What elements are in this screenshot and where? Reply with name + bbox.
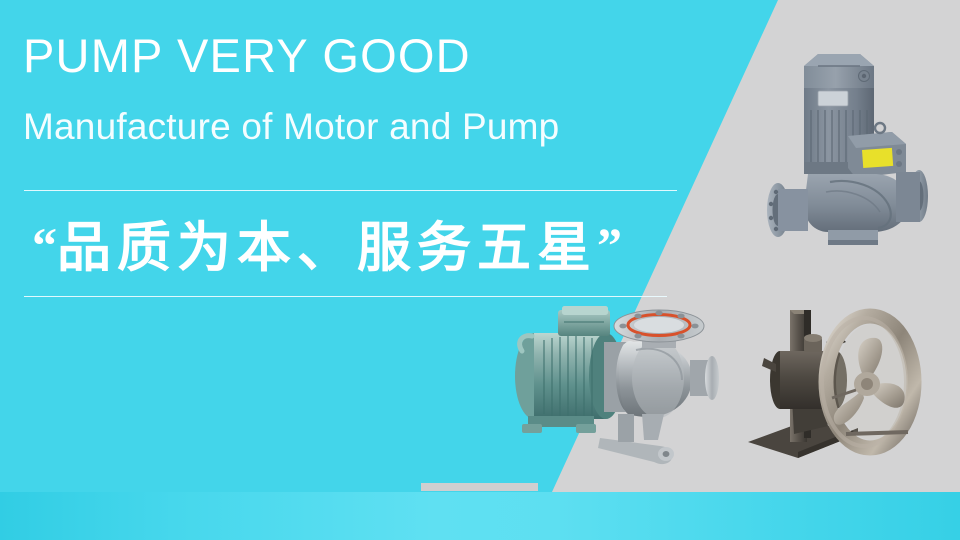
subtitle: Manufacture of Motor and Pump <box>23 104 559 150</box>
slogan-close-quote: ” <box>597 217 622 273</box>
slogan: “品质为本、服务五星” <box>32 200 622 293</box>
bottom-cyan-band <box>0 492 960 540</box>
product-image-horizontal-centrifugal-pump <box>492 296 742 472</box>
divider-top <box>24 190 677 191</box>
promo-banner: PUMP VERY GOOD Manufacture of Motor and … <box>0 0 960 540</box>
bottom-grey-tab <box>421 483 538 491</box>
slogan-text: 品质为本、服务五星 <box>57 216 597 279</box>
slogan-open-quote: “ <box>32 217 57 273</box>
page-title: PUMP VERY GOOD <box>23 28 471 84</box>
product-image-submersible-mixer <box>736 294 948 470</box>
product-image-vertical-inline-pump <box>756 44 960 254</box>
divider-bottom <box>24 296 667 297</box>
